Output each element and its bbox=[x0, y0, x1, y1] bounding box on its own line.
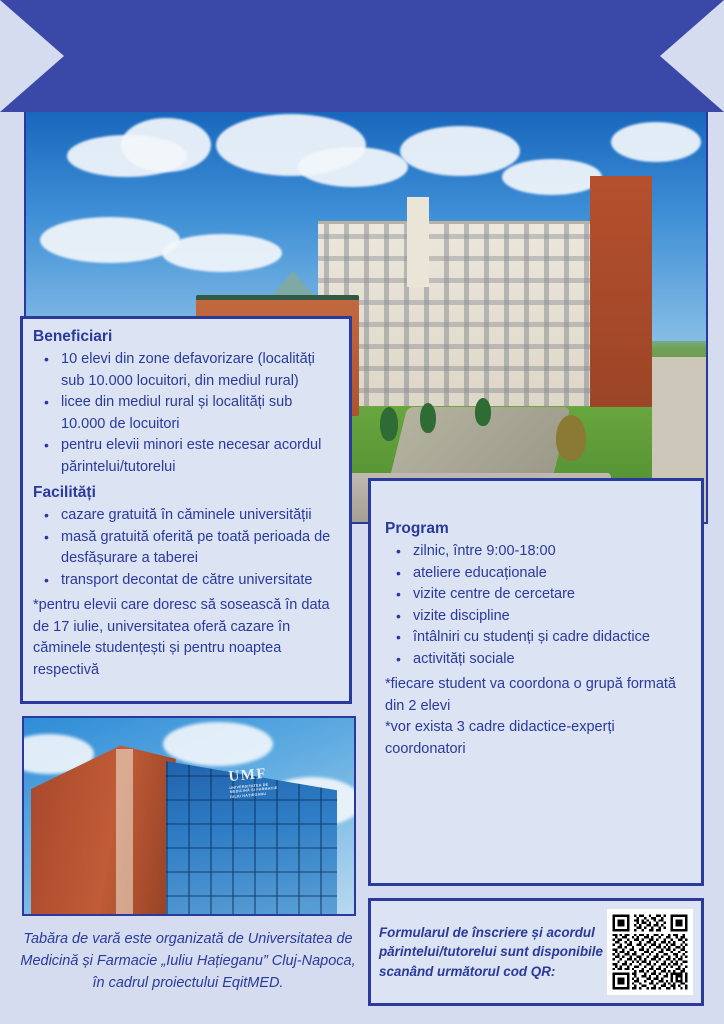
facade-stripe bbox=[116, 749, 133, 914]
list-item: pentru elevii minori este necesar acordu… bbox=[59, 435, 339, 478]
glass-roof-cone bbox=[271, 271, 315, 297]
tree bbox=[556, 415, 586, 461]
list-item: 10 elevi din zone defavorizare (localită… bbox=[59, 349, 339, 392]
building-umf-sign: UMF UNIVERSITATEA DE MEDICINĂ ȘI FARMACI… bbox=[227, 765, 277, 799]
program-note-1: *fiecare student va coordona o grupă for… bbox=[385, 674, 691, 717]
cloud bbox=[40, 217, 180, 263]
list-item: zilnic, între 9:00-18:00 bbox=[411, 541, 691, 563]
organizer-caption: Tabăra de vară este organizată de Univer… bbox=[14, 928, 362, 994]
list-item: licee din mediul rural și localități sub… bbox=[59, 392, 339, 435]
list-program: zilnic, între 9:00-18:00 ateliere educaț… bbox=[385, 541, 691, 670]
qr-code[interactable] bbox=[607, 909, 693, 995]
qr-info-box: Formularul de înscriere și acordul părin… bbox=[368, 898, 704, 1006]
header-banner bbox=[0, 0, 724, 112]
cloud bbox=[162, 234, 282, 272]
list-item: vizite discipline bbox=[411, 606, 691, 628]
info-box-program: Program zilnic, între 9:00-18:00 atelier… bbox=[368, 478, 704, 886]
brick-tower bbox=[590, 176, 651, 407]
facilitati-note: *pentru elevii care doresc să sosească î… bbox=[33, 595, 339, 681]
cloud bbox=[611, 122, 701, 162]
list-item: activități sociale bbox=[411, 649, 691, 671]
umf-building-photo: UMF UNIVERSITATEA DE MEDICINĂ ȘI FARMACI… bbox=[22, 716, 356, 916]
qr-code-image bbox=[610, 912, 690, 992]
heading-program: Program bbox=[385, 519, 691, 539]
tree bbox=[380, 407, 398, 441]
qr-instruction-text: Formularul de înscriere și acordul părin… bbox=[379, 923, 607, 982]
cloud bbox=[163, 722, 273, 766]
cloud bbox=[298, 147, 408, 187]
list-item: întâlniri cu studenți și cadre didactice bbox=[411, 627, 691, 649]
heading-beneficiari: Beneficiari bbox=[33, 327, 339, 347]
main-building bbox=[318, 221, 604, 405]
cloud bbox=[121, 118, 211, 172]
window-grid bbox=[318, 224, 604, 405]
list-item: ateliere educaționale bbox=[411, 563, 691, 585]
list-item: cazare gratuită în căminele universități… bbox=[59, 505, 339, 527]
poster-root: TABĂRĂ DE VARĂ PENTRU ELEVII DIN ZONE DE… bbox=[0, 0, 724, 1024]
list-item: transport decontat de către universitate bbox=[59, 570, 339, 592]
list-beneficiari: 10 elevi din zone defavorizare (localită… bbox=[33, 349, 339, 478]
list-item: masă gratuită oferită pe toată perioada … bbox=[59, 527, 339, 570]
tree bbox=[475, 398, 491, 426]
program-note-2: *vor exista 3 cadre didactice-experți co… bbox=[385, 717, 691, 760]
info-box-beneficiari-facilitati: Beneficiari 10 elevi din zone defavoriza… bbox=[20, 316, 352, 704]
heading-facilitati: Facilități bbox=[33, 483, 339, 503]
list-facilitati: cazare gratuită în căminele universități… bbox=[33, 505, 339, 591]
list-item: vizite centre de cercetare bbox=[411, 584, 691, 606]
chimney bbox=[407, 197, 429, 288]
